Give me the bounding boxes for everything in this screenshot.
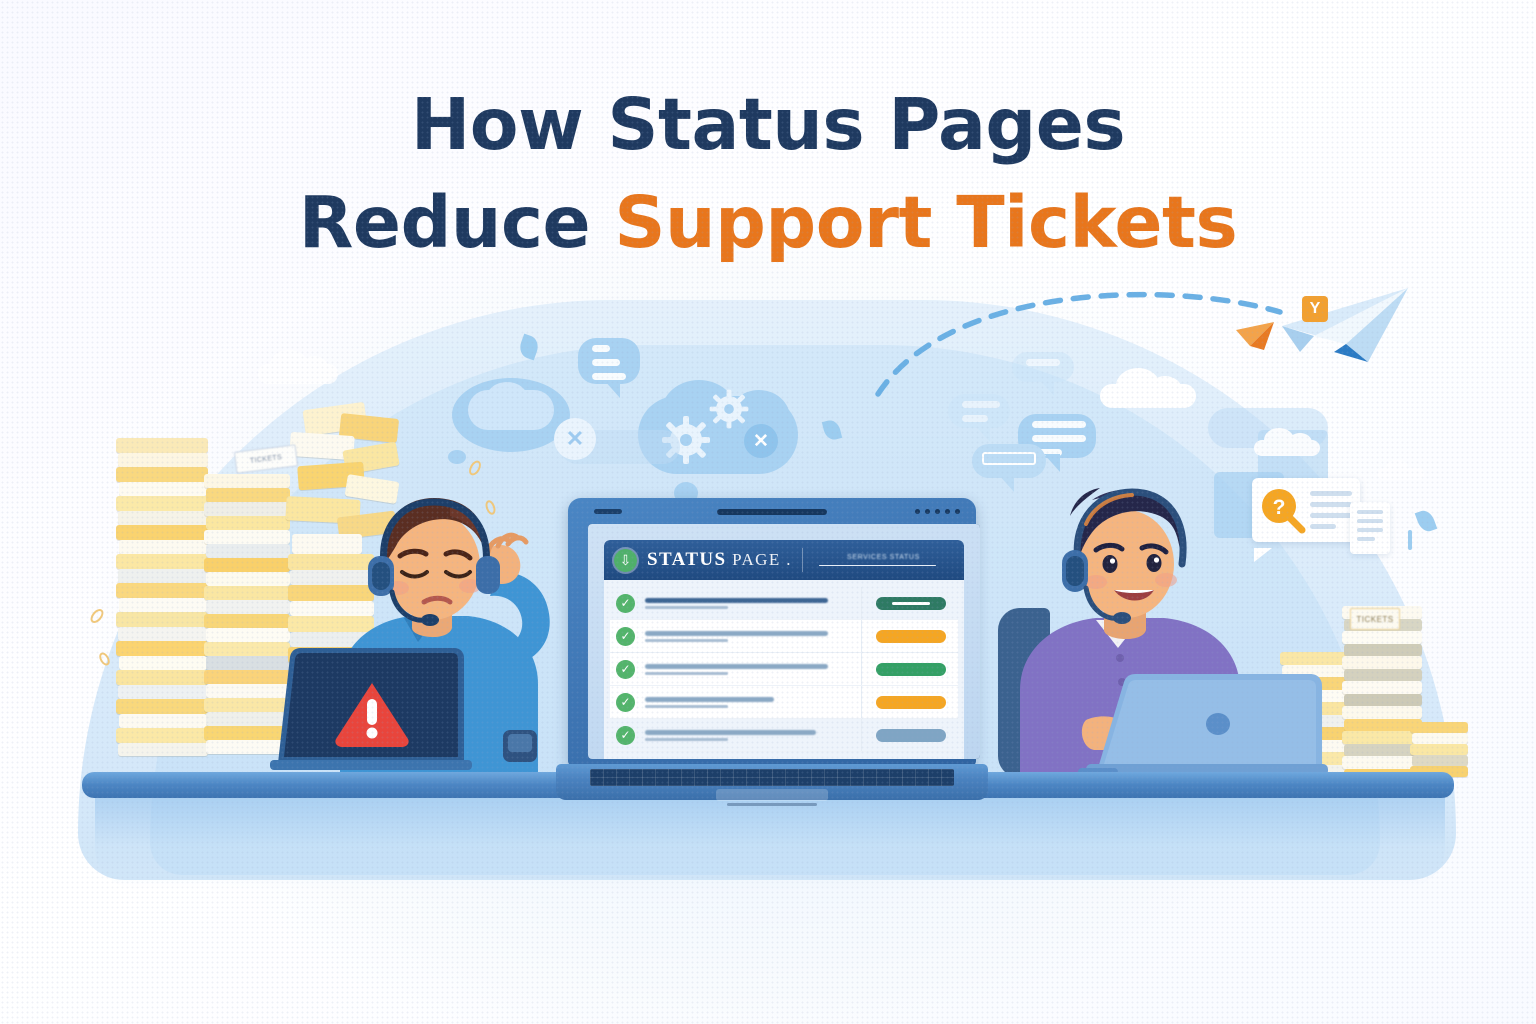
status-badge-cell bbox=[870, 597, 952, 610]
check-circle-icon: ✓ bbox=[616, 627, 635, 646]
status-page-header: ⇩ STATUS PAGE . SERVICES STATUS bbox=[604, 540, 964, 580]
status-row[interactable]: ✓ bbox=[610, 686, 958, 719]
status-row-divider bbox=[861, 587, 862, 619]
browser-window-dots bbox=[915, 509, 960, 514]
laptop-trackpad[interactable] bbox=[716, 789, 828, 801]
status-row-list: ✓✓✓✓✓ bbox=[610, 587, 958, 752]
cloud-icon bbox=[1378, 460, 1424, 480]
status-row-divider bbox=[861, 620, 862, 652]
mouse-device bbox=[503, 730, 537, 762]
illustration-canvas: How Status Pages Reduce Support Tickets … bbox=[0, 0, 1536, 1024]
leaf-shape bbox=[1408, 530, 1412, 550]
status-row[interactable]: ✓ bbox=[610, 653, 958, 686]
status-badge-cell bbox=[870, 696, 952, 709]
status-row-label-placeholder bbox=[645, 598, 853, 609]
brand-bold: STATUS bbox=[647, 549, 727, 570]
orange-dart-icon bbox=[1234, 320, 1280, 354]
close-x-icon: ✕ bbox=[554, 418, 596, 460]
gear-icon bbox=[708, 388, 750, 430]
status-badge[interactable] bbox=[876, 729, 946, 742]
flag-badge-icon: Y bbox=[1302, 296, 1328, 322]
laptop-lid: ⇩ STATUS PAGE . SERVICES STATUS ✓✓✓✓✓ bbox=[568, 498, 976, 766]
laptop-keyboard[interactable] bbox=[590, 769, 954, 786]
title-line-2: Reduce Support Tickets bbox=[0, 174, 1536, 272]
status-row-divider bbox=[861, 653, 862, 685]
status-row-label-placeholder bbox=[645, 697, 853, 708]
status-badge-cell bbox=[870, 729, 952, 742]
right-stack-label: TICKETS bbox=[1350, 608, 1400, 630]
title-line-1: How Status Pages bbox=[0, 76, 1536, 174]
check-circle-icon: ✓ bbox=[616, 693, 635, 712]
check-circle-icon: ✓ bbox=[616, 660, 635, 679]
browser-tab[interactable] bbox=[594, 509, 622, 514]
status-row-label-placeholder bbox=[645, 664, 853, 675]
status-page-meta-text: SERVICES STATUS bbox=[813, 554, 954, 561]
status-badge[interactable] bbox=[876, 696, 946, 709]
title-line-2-navy: Reduce bbox=[299, 181, 615, 264]
page-title: How Status Pages Reduce Support Tickets bbox=[0, 76, 1536, 272]
status-badge-cell bbox=[870, 663, 952, 676]
status-row-divider bbox=[861, 686, 862, 718]
check-circle-icon: ✓ bbox=[616, 594, 635, 613]
paper-plane-icon: Y bbox=[1276, 284, 1416, 370]
browser-address-bar[interactable] bbox=[717, 509, 827, 515]
laptop-front-notch bbox=[727, 803, 817, 806]
laptop-screen: ⇩ STATUS PAGE . SERVICES STATUS ✓✓✓✓✓ bbox=[588, 524, 980, 759]
brand-light: PAGE . bbox=[727, 550, 792, 569]
status-badge[interactable] bbox=[876, 630, 946, 643]
dashed-trajectory-arc bbox=[870, 290, 1290, 400]
status-page-meta-rule bbox=[819, 565, 936, 567]
status-page-brand: STATUS PAGE . bbox=[647, 549, 792, 571]
cloud-icon bbox=[1254, 428, 1320, 456]
cloud-thought-bubble bbox=[452, 378, 570, 452]
center-laptop: ⇩ STATUS PAGE . SERVICES STATUS ✓✓✓✓✓ bbox=[556, 498, 988, 816]
document-card-icon bbox=[1350, 502, 1390, 554]
status-page-meta: SERVICES STATUS bbox=[813, 554, 954, 567]
status-row[interactable]: ✓ bbox=[610, 719, 958, 752]
left-agent-laptop bbox=[268, 645, 478, 773]
status-badge-cell bbox=[870, 630, 952, 643]
status-page-app: ⇩ STATUS PAGE . SERVICES STATUS ✓✓✓✓✓ bbox=[604, 540, 964, 759]
download-circle-icon: ⇩ bbox=[614, 549, 637, 572]
right-agent-laptop bbox=[1072, 668, 1330, 780]
close-x-icon: ✕ bbox=[744, 424, 778, 458]
status-row[interactable]: ✓ bbox=[610, 587, 958, 620]
status-badge[interactable] bbox=[876, 597, 946, 610]
status-row-label-placeholder bbox=[645, 631, 853, 642]
header-divider bbox=[802, 548, 803, 572]
status-row[interactable]: ✓ bbox=[610, 620, 958, 653]
check-circle-icon: ✓ bbox=[616, 726, 635, 745]
leaf-shape bbox=[1415, 508, 1438, 534]
status-badge-text-placeholder bbox=[892, 602, 930, 605]
status-row-divider bbox=[861, 719, 862, 751]
status-badge[interactable] bbox=[876, 663, 946, 676]
title-line-2-orange: Support Tickets bbox=[614, 181, 1237, 264]
status-row-label-placeholder bbox=[645, 730, 853, 741]
status-page-body: ✓✓✓✓✓ bbox=[604, 580, 964, 752]
